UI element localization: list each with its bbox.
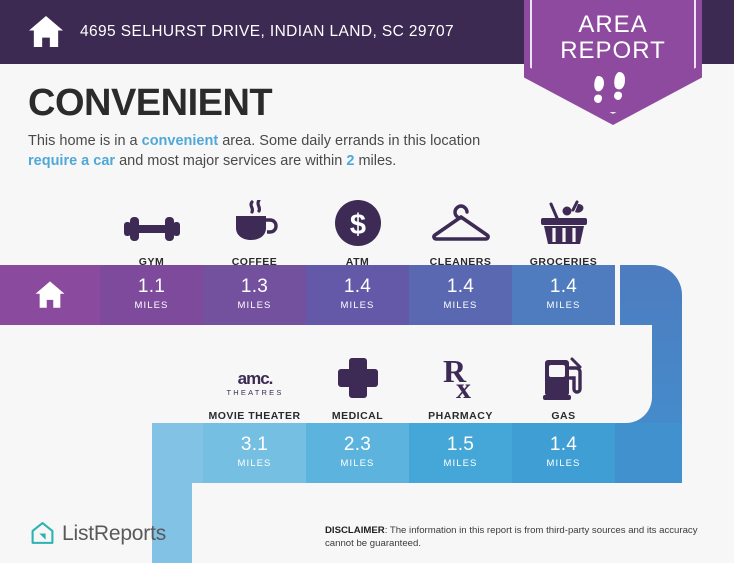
badge-line-1: AREA xyxy=(578,11,647,38)
distance-cell-atm: 1.4 MILES xyxy=(306,265,409,325)
distance-value: 1.3 xyxy=(203,265,306,296)
subtitle-highlight-2: require a car xyxy=(28,153,115,169)
amenity-label: MEDICAL xyxy=(306,400,409,422)
distance-unit: MILES xyxy=(512,454,615,469)
amenity-gym: GYM xyxy=(100,198,203,268)
page-subtitle: This home is in a convenient area. Some … xyxy=(28,131,508,171)
ribbon-notch-lower xyxy=(192,483,734,563)
distance-value: 1.1 xyxy=(100,265,203,296)
grocery-basket-icon xyxy=(512,198,615,246)
listreports-logo: ListReports xyxy=(30,521,166,546)
amenity-coffee: COFFEE xyxy=(203,198,306,268)
distance-unit: MILES xyxy=(409,296,512,311)
distance-value: 1.4 xyxy=(512,265,615,296)
subtitle-part-4: miles. xyxy=(354,153,396,169)
amenity-groceries: GROCERIES xyxy=(512,198,615,268)
amenity-label: PHARMACY xyxy=(409,400,512,422)
distance-value: 1.5 xyxy=(409,423,512,454)
ribbon-row2-lead xyxy=(152,423,203,483)
distance-unit: MILES xyxy=(306,454,409,469)
dollar-circle-icon: $ xyxy=(306,198,409,246)
distance-cell-movie-theater: 3.1 MILES xyxy=(203,423,306,483)
disclaimer-label: DISCLAIMER xyxy=(325,525,385,536)
distance-cell-gym: 1.1 MILES xyxy=(100,265,203,325)
svg-text:amc.: amc. xyxy=(237,369,272,388)
subtitle-part-2: area. Some daily errands in this locatio… xyxy=(218,133,480,149)
listreports-logo-text: ListReports xyxy=(62,522,166,546)
clothes-hanger-icon xyxy=(409,198,512,246)
distance-unit: MILES xyxy=(306,296,409,311)
distance-value: 3.1 xyxy=(203,423,306,454)
amenity-label: GAS xyxy=(512,400,615,422)
distance-cell-cleaners: 1.4 MILES xyxy=(409,265,512,325)
distance-bar-row-1: 1.1 MILES 1.3 MILES 1.4 MILES 1.4 MILES … xyxy=(0,265,682,325)
distance-unit: MILES xyxy=(409,454,512,469)
amenity-movie-theater: amc. THEATRES MOVIE THEATER xyxy=(203,352,306,422)
amenity-gas: GAS xyxy=(512,352,615,422)
footprints-icon xyxy=(524,72,702,111)
distance-cell-groceries: 1.4 MILES xyxy=(512,265,615,325)
distance-bar-row-2: 3.1 MILES 2.3 MILES 1.5 MILES 1.4 MILES xyxy=(152,423,682,483)
ribbon-home-segment xyxy=(0,265,100,325)
rx-icon: R x xyxy=(409,352,512,400)
distance-cell-coffee: 1.3 MILES xyxy=(203,265,306,325)
coffee-cup-icon xyxy=(203,198,306,246)
subtitle-part-1: This home is in a xyxy=(28,133,142,149)
medical-cross-icon xyxy=(306,352,409,400)
gas-pump-icon xyxy=(512,352,615,400)
distance-value: 2.3 xyxy=(306,423,409,454)
distance-cell-pharmacy: 1.5 MILES xyxy=(409,423,512,483)
property-address: 4695 SELHURST DRIVE, INDIAN LAND, SC 297… xyxy=(80,23,454,41)
distance-value: 1.4 xyxy=(512,423,615,454)
dumbbell-icon xyxy=(100,198,203,246)
home-icon xyxy=(26,12,66,52)
home-icon xyxy=(32,278,68,312)
distance-unit: MILES xyxy=(203,454,306,469)
subtitle-part-3: and most major services are within xyxy=(115,153,346,169)
distance-unit: MILES xyxy=(512,296,615,311)
subtitle-highlight-1: convenient xyxy=(142,133,219,149)
svg-text:THEATRES: THEATRES xyxy=(226,388,283,397)
page-title: CONVENIENT xyxy=(28,82,272,125)
distance-cell-medical: 2.3 MILES xyxy=(306,423,409,483)
amenity-label: MOVIE THEATER xyxy=(203,400,306,422)
area-report-page: 4695 SELHURST DRIVE, INDIAN LAND, SC 297… xyxy=(0,0,734,563)
distance-value: 1.4 xyxy=(409,265,512,296)
amenity-atm: $ ATM xyxy=(306,198,409,268)
amenity-cleaners: CLEANERS xyxy=(409,198,512,268)
listreports-logo-icon xyxy=(30,521,55,546)
badge-line-2: REPORT xyxy=(560,37,666,64)
amenity-pharmacy: R x PHARMACY xyxy=(409,352,512,422)
area-report-badge: AREA REPORT xyxy=(524,0,702,125)
disclaimer: DISCLAIMER: The information in this repo… xyxy=(325,524,725,550)
amenity-medical: MEDICAL xyxy=(306,352,409,422)
svg-text:x: x xyxy=(456,372,471,400)
badge-label: AREA REPORT xyxy=(524,12,702,64)
distance-unit: MILES xyxy=(203,296,306,311)
svg-text:$: $ xyxy=(349,209,365,241)
ribbon-row2-tail xyxy=(615,423,682,483)
distance-value: 1.4 xyxy=(306,265,409,296)
amc-theatres-logo: amc. THEATRES xyxy=(203,352,306,400)
distance-cell-gas: 1.4 MILES xyxy=(512,423,615,483)
distance-unit: MILES xyxy=(100,296,203,311)
